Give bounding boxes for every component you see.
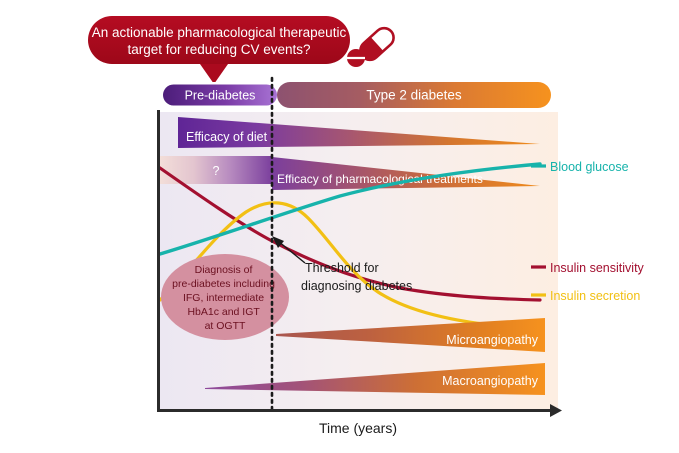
x-axis-label: Time (years) <box>319 420 397 436</box>
band-microangiopathy-label: Microangiopathy <box>446 333 538 347</box>
phase-bar-prediabetes-label: Pre-diabetes <box>185 89 256 103</box>
phase-bar-prediabetes[interactable]: Pre-diabetes <box>160 82 280 108</box>
note-line-2: pre-diabetes including <box>172 278 275 290</box>
callout-bubble[interactable]: An actionable pharmacological therapeuti… <box>88 16 350 84</box>
diagram-svg: An actionable pharmacological therapeuti… <box>0 0 679 453</box>
legend-insulin-sensitivity-label: Insulin sensitivity <box>550 261 645 275</box>
callout-line2: target for reducing CV events? <box>127 42 310 57</box>
legend-blood-glucose-label: Blood glucose <box>550 160 629 174</box>
callout-pointer <box>200 64 228 84</box>
note-line-4: HbA1c and IGT <box>187 306 260 318</box>
pill-capsule-icon <box>347 24 397 67</box>
note-line-5: at OGTT <box>205 320 246 332</box>
callout-line1: An actionable pharmacological therapeuti… <box>92 25 347 40</box>
threshold-annotation-line1: Threshold for <box>305 261 379 275</box>
phase-bar-type2-diabetes-label: Type 2 diabetes <box>366 88 462 103</box>
note-line-3: IFG, intermediate <box>183 292 264 304</box>
band-efficacy-of-diet-label: Efficacy of diet <box>186 130 268 144</box>
note-line-1: Diagnosis of <box>195 264 253 276</box>
threshold-annotation-line2: diagnosing diabetes <box>301 279 412 293</box>
band-macroangiopathy-label: Macroangiopathy <box>442 374 539 388</box>
phase-bar-type2-diabetes[interactable]: Type 2 diabetes <box>277 82 551 108</box>
figure-canvas: An actionable pharmacological therapeuti… <box>0 0 679 453</box>
band-question-label: ? <box>213 164 220 178</box>
prediabetes-diagnosis-note: Diagnosis of pre-diabetes including IFG,… <box>161 254 289 340</box>
tablet-icon <box>347 49 365 67</box>
legend-insulin-secretion-label: Insulin secretion <box>550 289 640 303</box>
